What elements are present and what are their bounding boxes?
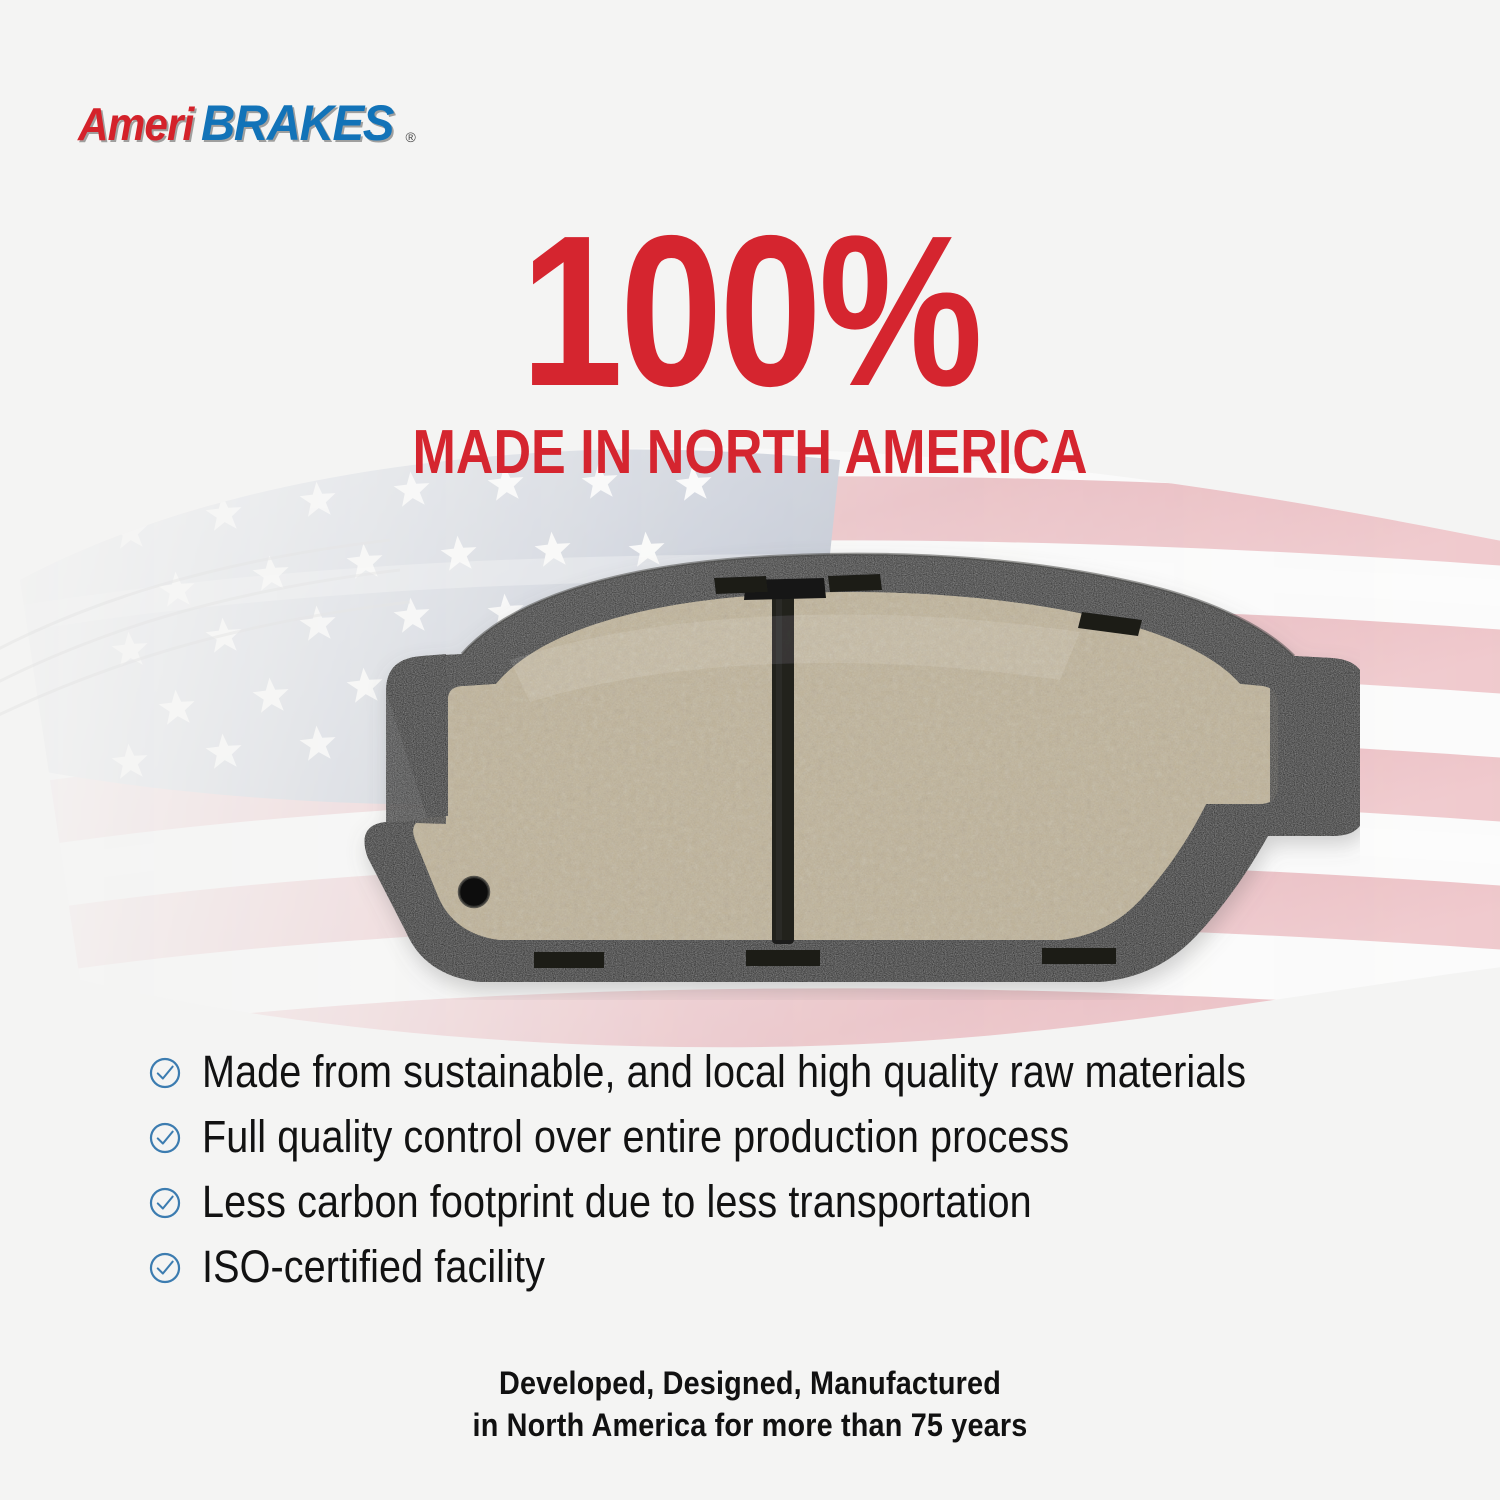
circle-check-icon [148,1121,182,1155]
logo-text-brakes: BRAKES [201,98,393,148]
footer-text: Developed, Designed, Manufactured in Nor… [0,1362,1500,1446]
footer-line-1: Developed, Designed, Manufactured [75,1362,1425,1404]
circle-check-icon [148,1251,182,1285]
feature-label: Less carbon footprint due to less transp… [202,1179,1032,1224]
feature-label: Made from sustainable, and local high qu… [202,1049,1246,1094]
headline-subtitle: MADE IN NORTH AMERICA [120,422,1380,484]
circle-check-icon [148,1056,182,1090]
feature-label: ISO-certified facility [202,1244,545,1289]
footer-line-2: in North America for more than 75 years [75,1404,1425,1446]
list-item: Full quality control over entire product… [148,1105,1398,1167]
list-item: ISO-certified facility [148,1235,1398,1297]
headline-percent: 100% [105,212,1395,410]
logo-text-ameri: Ameri [78,101,193,147]
headline-block: 100% MADE IN NORTH AMERICA [0,212,1500,484]
feature-list: Made from sustainable, and local high qu… [148,1040,1398,1300]
list-item: Made from sustainable, and local high qu… [148,1040,1398,1102]
list-item: Less carbon footprint due to less transp… [148,1170,1398,1232]
circle-check-icon [148,1186,182,1220]
poster-canvas: Ameri BRAKES ® 100% MADE IN NORTH AMERIC… [0,0,1500,1500]
registered-trademark-icon: ® [406,130,416,148]
brand-logo[interactable]: Ameri BRAKES ® [78,98,416,148]
feature-label: Full quality control over entire product… [202,1114,1069,1159]
brake-pad-icon [180,540,1360,1000]
